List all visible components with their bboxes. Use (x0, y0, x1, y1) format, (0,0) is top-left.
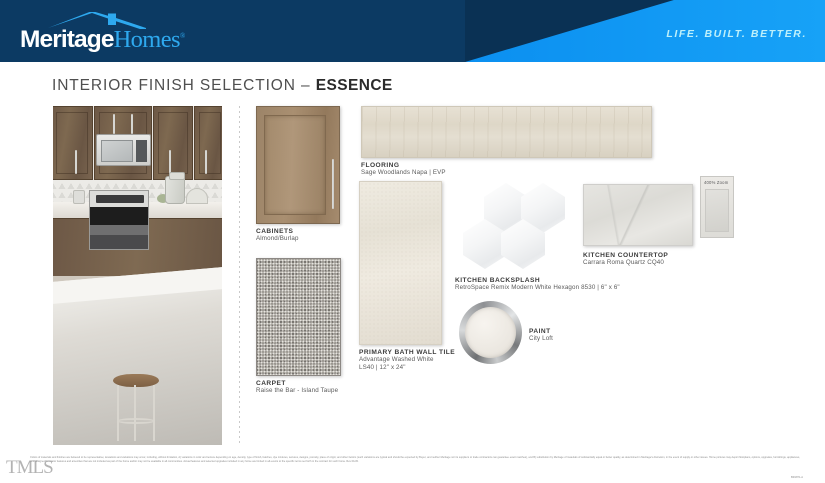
carpet-image (256, 258, 341, 376)
carpet-label-title: CARPET (256, 380, 341, 387)
countertop-label-title: KITCHEN COUNTERTOP (583, 252, 693, 259)
logo-trademark: ® (180, 32, 185, 40)
countertop-label-subtitle: Carrara Roma Quartz CQ40 (583, 259, 693, 267)
bath-tile-label-subtitle-2: LS40 | 12" x 24" (359, 364, 455, 372)
page-title-prefix: INTERIOR FINISH SELECTION – (52, 77, 316, 94)
backsplash-label-subtitle: RetroSpace Remix Modern White Hexagon 85… (455, 284, 620, 292)
stool-leg (117, 385, 119, 441)
countertop-zoom-sample (705, 189, 729, 232)
countertop-image (583, 184, 693, 246)
range-control-panel (96, 195, 144, 203)
bath-tile-label-subtitle-1: Advantage Washed White (359, 356, 455, 364)
cabinets-label-title: CABINETS (256, 228, 340, 235)
cabinet-door-image (256, 106, 340, 224)
stool-footrest-ring (117, 418, 155, 424)
cabinet-handle (205, 150, 207, 174)
upper-cabinet-center-right (153, 106, 193, 180)
cabinet-handle (131, 114, 133, 134)
countertop-zoom-label: 400% Zoom (704, 180, 728, 185)
logo-wordmark: MeritageHomes® (20, 26, 185, 54)
upper-cabinet-right (194, 106, 222, 180)
footer: Colors of materials and finishes are bel… (0, 450, 825, 483)
flooring-grain-texture (362, 107, 651, 157)
jar-decor (73, 190, 85, 204)
range-oven (89, 190, 149, 250)
kitchen-photo (53, 106, 222, 445)
paint-label-group: PAINT City Loft (529, 328, 553, 343)
paint-label-title: PAINT (529, 328, 553, 335)
legal-disclaimer: Colors of materials and finishes are bel… (30, 456, 800, 464)
carpet-texture (257, 259, 340, 375)
document-code: BR1871-A (791, 476, 803, 479)
backsplash-hexagon-tiles (455, 183, 565, 269)
cabinet-door-panel (264, 115, 326, 215)
swatch-carpet[interactable]: CARPET Raise the Bar - Island Taupe (256, 258, 341, 395)
flooring-label-title: FLOORING (361, 162, 652, 169)
flooring-plank-image (361, 106, 652, 158)
meritage-homes-logo: MeritageHomes® (20, 12, 195, 52)
vertical-divider (239, 106, 240, 443)
upper-cabinet-left (53, 106, 93, 180)
stool-leg (153, 385, 155, 441)
bar-stool (113, 374, 159, 442)
swatch-kitchen-countertop[interactable]: 400% Zoom KITCHEN COUNTERTOP Carrara Rom… (583, 184, 693, 267)
microwave-window (101, 140, 133, 162)
bath-tile-texture (360, 182, 441, 344)
countertop-veining (584, 185, 692, 245)
swatch-flooring[interactable]: FLOORING Sage Woodlands Napa | EVP (361, 106, 652, 177)
tmls-watermark: TMLS (6, 457, 53, 479)
paint-label-subtitle: City Loft (529, 335, 553, 343)
paint-can-color-face (465, 307, 516, 358)
flooring-label-subtitle: Sage Woodlands Napa | EVP (361, 169, 652, 177)
bath-tile-label-title: PRIMARY BATH WALL TILE (359, 349, 455, 356)
page-title: INTERIOR FINISH SELECTION – ESSENCE (52, 77, 393, 95)
logo-meritage-text: Meritage (20, 26, 114, 53)
stool-leg (134, 385, 136, 441)
backsplash-label-title: KITCHEN BACKSPLASH (455, 277, 620, 284)
microwave-control-panel (136, 140, 147, 162)
carpet-label-subtitle: Raise the Bar - Island Taupe (256, 387, 341, 395)
cabinets-label-subtitle: Almond/Burlap (256, 235, 340, 243)
cabinet-pull-handle (332, 159, 335, 209)
cabinet-handle (113, 114, 115, 134)
cabinet-handle (169, 150, 171, 174)
paint-can-image (459, 301, 522, 364)
countertop-zoom-detail: 400% Zoom (700, 176, 734, 238)
microwave (96, 134, 151, 166)
milk-can-decor (165, 176, 185, 204)
bath-tile-image (359, 181, 442, 345)
cabinet-handle (75, 150, 77, 174)
swatch-paint[interactable]: PAINT City Loft (459, 301, 522, 364)
swatch-primary-bath-wall-tile[interactable]: PRIMARY BATH WALL TILE Advantage Washed … (359, 181, 455, 373)
brand-header: MeritageHomes® LIFE. BUILT. BETTER. (0, 0, 825, 62)
page-title-collection: ESSENCE (316, 77, 393, 94)
interior-finish-selection-page: MeritageHomes® LIFE. BUILT. BETTER. INTE… (0, 0, 825, 483)
logo-homes-text: Homes (114, 26, 180, 53)
brand-tagline: LIFE. BUILT. BETTER. (666, 28, 807, 40)
plate-decor (186, 188, 208, 204)
swatch-cabinets[interactable]: CABINETS Almond/Burlap (256, 106, 340, 243)
